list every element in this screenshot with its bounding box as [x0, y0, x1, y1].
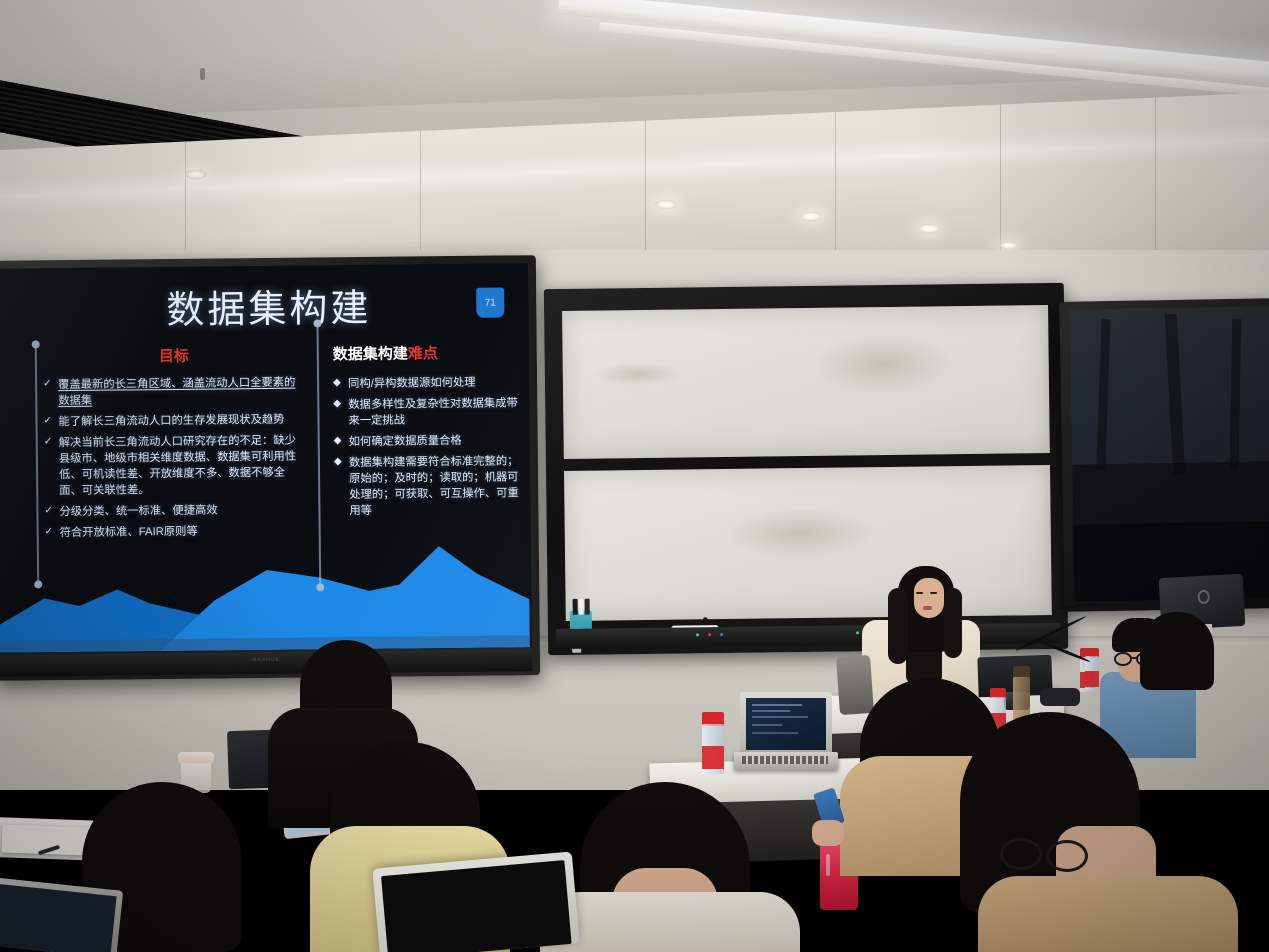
speaker-eye: [916, 592, 923, 594]
tablet[interactable]: [372, 851, 579, 952]
marker-pen[interactable]: [579, 599, 584, 615]
sprinkler-head: [200, 68, 205, 80]
glasses-bridge: [1132, 657, 1137, 659]
laptop-screen: [0, 884, 117, 952]
list-item: ✓ 解决当前长三角流动人口研究存在的不足：缺少县级市、地级市相关维度数据、数据集…: [44, 433, 307, 500]
screen-reflection: [1072, 461, 1269, 524]
slide-page-badge: 71: [476, 287, 504, 317]
ceiling-downlight: [655, 200, 677, 209]
water-bottle[interactable]: [702, 712, 724, 774]
marker-pen[interactable]: [573, 599, 578, 615]
list-item-label: 符合开放标准、FAIR原则等: [60, 526, 198, 539]
check-icon: ✓: [44, 504, 53, 518]
diamond-icon: ◆: [333, 397, 341, 411]
ceiling-downlight: [918, 224, 940, 233]
screen-text-line: [752, 704, 802, 706]
secondary-display-screen: [1069, 306, 1269, 601]
bottle-label: [1085, 671, 1099, 687]
whiteboard-upper[interactable]: [562, 305, 1050, 459]
screen-text-line: [752, 710, 790, 712]
slide-right-column: 数据集构建难点 ◆ 同构/异构数据源如何处理 ◆ 数据多样性及复杂性对数据集成带…: [333, 341, 525, 524]
hand: [812, 820, 844, 846]
list-item-label: 数据集构建需要符合标准完整的；原始的；及时的；读取的；机器可处理的；可获取、可互…: [349, 455, 519, 517]
shirt: [540, 892, 800, 952]
right-bullet-list: ◆ 同构/异构数据源如何处理 ◆ 数据多样性及复杂性对数据集成带来一定挑战 ◆ …: [333, 374, 524, 519]
list-item: ✓ 能了解长三角流动人口的生存发展现状及趋势: [43, 412, 305, 431]
diamond-icon: ◆: [334, 434, 342, 448]
list-item: ✓ 符合开放标准、FAIR原则等: [45, 523, 307, 542]
water-bottle[interactable]: [1013, 666, 1030, 720]
screen-reflection: [1230, 319, 1242, 469]
left-heading-text: 目标: [159, 348, 189, 365]
speaker-eye: [930, 592, 937, 594]
speaker-mouth: [923, 606, 932, 610]
list-item-label: 能了解长三角流动人口的生存发展现状及趋势: [58, 414, 284, 428]
list-item-label: 数据多样性及复杂性对数据集成带来一定挑战: [348, 397, 518, 427]
right-column-heading: 数据集构建难点: [333, 341, 523, 364]
tan-hoodie: [978, 876, 1238, 952]
list-item-label: 如何确定数据质量合格: [349, 435, 462, 448]
presentation-display[interactable]: 数据集构建 71 目标 ✓ 覆盖最新的长三角区域、涵盖流动人口全要素的数据集: [0, 255, 540, 681]
laptop[interactable]: [0, 877, 123, 952]
presentation-slide: 数据集构建 71 目标 ✓ 覆盖最新的长三角区域、涵盖流动人口全要素的数据集: [0, 263, 532, 653]
screen-text-line: [752, 732, 798, 734]
list-item: ◆ 数据多样性及复杂性对数据集成带来一定挑战: [333, 395, 523, 429]
list-item-label: 解决当前长三角流动人口研究存在的不足：缺少县级市、地级市相关维度数据、数据集可利…: [59, 435, 297, 498]
laptop-keyboard[interactable]: [734, 752, 838, 770]
hair: [1140, 612, 1214, 690]
tablet-screen: [381, 860, 572, 952]
screen-reflection: [1096, 319, 1110, 469]
check-icon: ✓: [45, 525, 54, 539]
right-heading-suffix: 难点: [408, 345, 438, 362]
screen-text-line: [752, 724, 782, 726]
water-bottle[interactable]: [1085, 648, 1099, 690]
slide-left-column: 目标 ✓ 覆盖最新的长三角区域、涵盖流动人口全要素的数据集 ✓ 能了解长三角流动…: [43, 344, 307, 547]
board-fixture: [703, 617, 708, 622]
list-item: ◆ 数据集构建需要符合标准完整的；原始的；及时的；读取的；机器可处理的；可获取、…: [334, 453, 525, 519]
list-item: ◆ 同构/异构数据源如何处理: [333, 374, 523, 392]
speaker-face: [914, 578, 944, 618]
check-icon: ✓: [43, 414, 52, 428]
whiteboard-smudge: [724, 507, 875, 559]
whiteboard-smudge: [812, 332, 953, 396]
glasses-icon: [1114, 652, 1132, 666]
bottle-label: [702, 746, 724, 770]
display-bezel-bottom: MAXHUB: [0, 649, 532, 677]
ceiling-downlight: [800, 212, 822, 221]
list-item: ✓ 覆盖最新的长三角区域、涵盖流动人口全要素的数据集: [43, 375, 305, 410]
list-item-label: 同构/异构数据源如何处理: [348, 377, 476, 390]
screen-text-line: [752, 716, 808, 718]
speaker-hair-strand: [944, 588, 962, 658]
status-led: [720, 633, 723, 636]
status-led: [708, 633, 711, 636]
status-led: [696, 633, 699, 636]
whiteboard-unit[interactable]: [544, 283, 1068, 655]
diamond-icon: ◆: [334, 455, 342, 469]
secondary-display[interactable]: [1059, 298, 1269, 612]
whiteboard-tray: [556, 623, 1060, 649]
left-bullet-list: ✓ 覆盖最新的长三角区域、涵盖流动人口全要素的数据集 ✓ 能了解长三角流动人口的…: [43, 375, 307, 542]
slide-title: 数据集构建: [166, 277, 372, 334]
marker-pen[interactable]: [585, 599, 590, 615]
speaker-hair-strand: [888, 588, 908, 664]
lecture-hall-scene: 数据集构建 71 目标 ✓ 覆盖最新的长三角区域、涵盖流动人口全要素的数据集: [0, 0, 1269, 952]
display-brand-logo: MAXHUB: [252, 657, 279, 663]
screen-reflection: [1165, 314, 1185, 474]
glasses-icon: [1046, 840, 1088, 872]
right-heading-prefix: 数据集构建: [333, 345, 408, 363]
whiteboard-lower[interactable]: [564, 465, 1052, 621]
audio-equipment: [1040, 688, 1080, 706]
speaker-chair[interactable]: [836, 655, 874, 715]
ceiling-downlight: [1000, 242, 1018, 249]
list-item: ✓ 分级分类、统一标准、便捷高效: [44, 502, 306, 521]
list-item: ◆ 如何确定数据质量合格: [334, 432, 524, 450]
list-item-label: 分级分类、统一标准、便捷高效: [59, 505, 217, 519]
left-column-heading: 目标: [43, 344, 305, 368]
display-screen-area: 数据集构建 71 目标 ✓ 覆盖最新的长三角区域、涵盖流动人口全要素的数据集: [0, 263, 532, 653]
whiteboard-smudge: [593, 361, 683, 386]
list-item-label: 覆盖最新的长三角区域、涵盖流动人口全要素的数据集: [58, 377, 295, 408]
bottle-highlight: [826, 854, 830, 876]
check-icon: ✓: [43, 377, 52, 391]
monitor-brand-logo: [1197, 590, 1210, 605]
check-icon: ✓: [44, 435, 53, 449]
status-led: [856, 631, 859, 634]
diamond-icon: ◆: [333, 376, 341, 390]
glasses-icon: [1000, 838, 1042, 870]
ceiling-downlight: [185, 170, 207, 179]
bottle-body: [1013, 677, 1030, 720]
keyboard-keys: [742, 756, 828, 764]
